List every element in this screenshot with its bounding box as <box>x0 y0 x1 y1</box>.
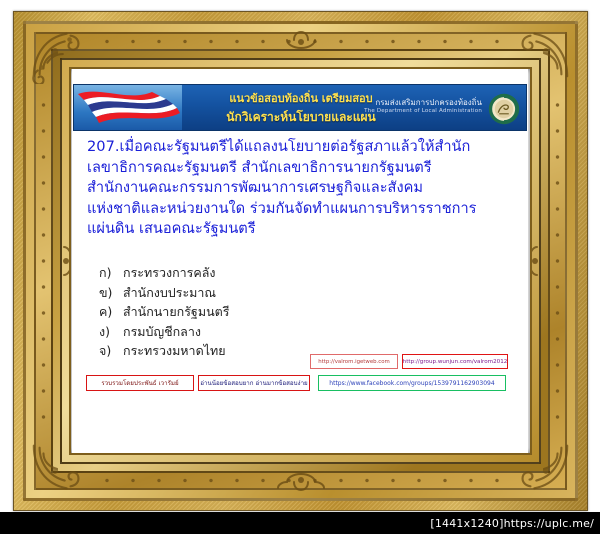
frame-rosette-icon <box>266 30 336 52</box>
choice-key: จ) <box>99 341 123 361</box>
facebook-group-url-box[interactable]: https://www.facebook.com/groups/15397911… <box>318 375 506 391</box>
header-banner: แนวข้อสอบท้องถิ่น เตรียมสอบ นักวิเคราะห์… <box>73 84 527 131</box>
question-line: สำนักงานคณะกรรมการพัฒนาการเศรษฐกิจและสัง… <box>87 178 519 199</box>
thai-flag-icon <box>74 85 182 130</box>
choice-option-d[interactable]: ง) กรมบัญชีกลาง <box>99 322 499 342</box>
frame-rosette-icon <box>266 470 336 492</box>
choice-label: สำนักนายกรัฐมนตรี <box>123 302 499 322</box>
facebook-group-url-text: https://www.facebook.com/groups/15397911… <box>329 380 494 387</box>
frame-dot-ornament-right <box>555 92 560 430</box>
choice-key: ง) <box>99 322 123 342</box>
image-host-statusbar: [1441x1240] https://uplc.me/ <box>0 512 600 534</box>
compiler-credit-text: รวบรวมโดยประพันธ์ เวารัมย์ <box>101 378 178 388</box>
website-url-box-2[interactable]: http://group.wunjun.com/valrom2012 <box>402 354 508 369</box>
choice-option-b[interactable]: ข) สำนักงบประมาณ <box>99 283 499 303</box>
choice-option-a[interactable]: ก) กระทรวงการคลัง <box>99 263 499 283</box>
choice-label: สำนักงบประมาณ <box>123 283 499 303</box>
page-root: แนวข้อสอบท้องถิ่น เตรียมสอบ นักวิเคราะห์… <box>0 0 600 534</box>
website-url-2-text: http://group.wunjun.com/valrom2012 <box>403 359 508 365</box>
image-host-url[interactable]: https://uplc.me/ <box>504 517 594 530</box>
choice-key: ก) <box>99 263 123 283</box>
choice-label: กระทรวงการคลัง <box>123 263 499 283</box>
choice-key: ข) <box>99 283 123 303</box>
department-name-block: กรมส่งเสริมการปกครองท้องถิ่น The Departm… <box>364 98 482 115</box>
question-line: แห่งชาติและหน่วยงานใด ร่วมกันจัดทำแผนการ… <box>87 199 519 220</box>
website-url-box-1[interactable]: http://valrom.igetweb.com <box>310 354 398 369</box>
question-text: 207.เมื่อคณะรัฐมนตรีได้แถลงนโยบายต่อรัฐส… <box>87 137 519 240</box>
website-url-1-text: http://valrom.igetweb.com <box>318 359 390 365</box>
study-motto-box: อ่านน้อยข้อสอบยาก อ่านมากข้อสอบง่าย <box>198 375 310 391</box>
question-line: แผ่นดิน เสนอคณะรัฐมนตรี <box>87 219 519 240</box>
department-name-thai: กรมส่งเสริมการปกครองท้องถิ่น <box>364 98 482 108</box>
answer-choices-list: ก) กระทรวงการคลัง ข) สำนักงบประมาณ ค) สำ… <box>99 263 499 361</box>
choice-key: ค) <box>99 302 123 322</box>
image-dimensions-label: [1441x1240] <box>430 517 503 530</box>
choice-option-c[interactable]: ค) สำนักนายกรัฐมนตรี <box>99 302 499 322</box>
department-seal-icon <box>488 93 520 125</box>
question-line: เลขาธิการคณะรัฐมนตรี สำนักเลขาธิการนายกร… <box>87 158 519 179</box>
question-line: 207.เมื่อคณะรัฐมนตรีได้แถลงนโยบายต่อรัฐส… <box>87 137 519 158</box>
study-motto-text: อ่านน้อยข้อสอบยาก อ่านมากข้อสอบง่าย <box>200 378 307 388</box>
compiler-credit-box: รวบรวมโดยประพันธ์ เวารัมย์ <box>86 375 194 391</box>
choice-label: กรมบัญชีกลาง <box>123 322 499 342</box>
department-name-english: The Department of Local Administration <box>364 108 482 115</box>
exam-slide: แนวข้อสอบท้องถิ่น เตรียมสอบ นักวิเคราะห์… <box>72 69 528 453</box>
frame-dot-ornament-left <box>41 92 46 430</box>
